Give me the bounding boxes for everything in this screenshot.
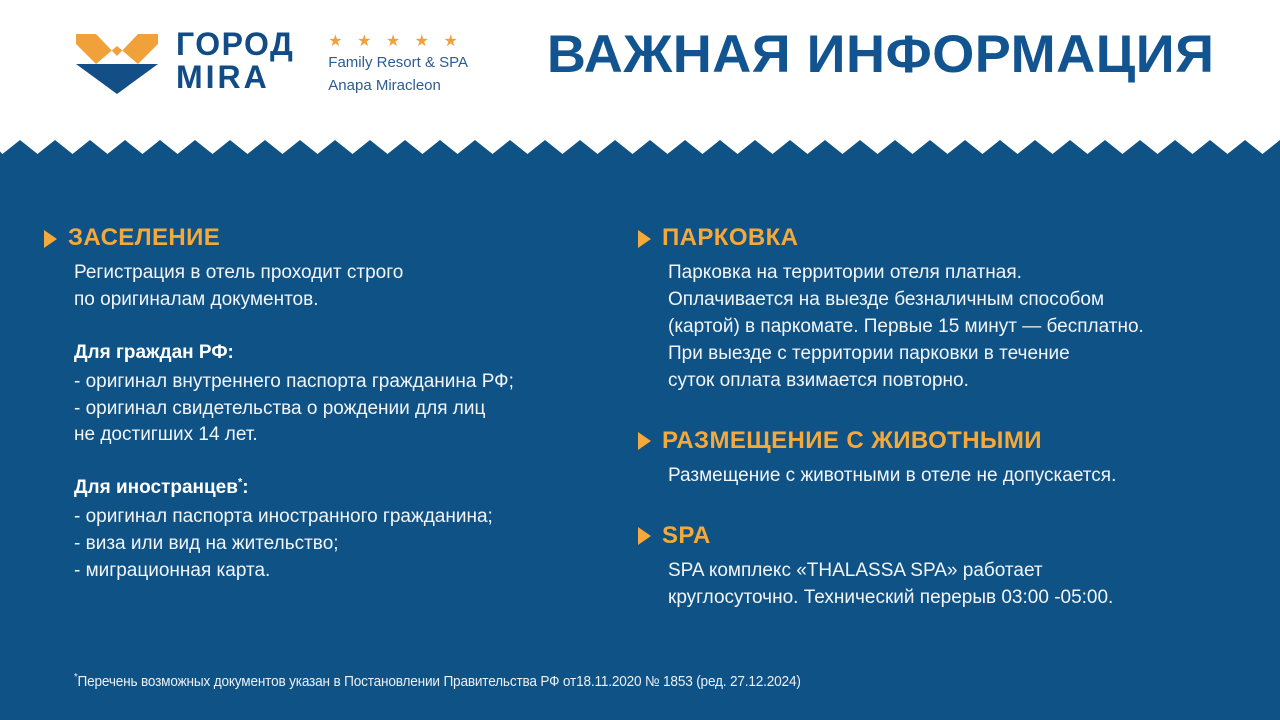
section-title: SPA xyxy=(662,524,711,548)
section-paragraph: суток оплата взимается повторно. xyxy=(668,368,1228,395)
brand-logo-block: ГОРОД MIRA ★ ★ ★ ★ ★ Family Resort & SPA… xyxy=(74,26,468,97)
page-title: ВАЖНАЯ ИНФОРМАЦИЯ xyxy=(546,28,1214,81)
brand-tagline: ★ ★ ★ ★ ★ Family Resort & SPA Anapa Mira… xyxy=(328,32,468,97)
section-title: ЗАСЕЛЕНИЕ xyxy=(68,226,220,250)
list-item: - оригинал паспорта иностранного граждан… xyxy=(74,504,614,531)
footnote-text: Перечень возможных документов указан в П… xyxy=(77,674,800,690)
section-paragraph: SPA комплекс «THALASSA SPA» работает xyxy=(668,558,1228,585)
section-paragraph: Парковка на территории отеля платная. xyxy=(668,260,1228,287)
header-bar: ГОРОД MIRA ★ ★ ★ ★ ★ Family Resort & SPA… xyxy=(0,0,1280,140)
section-paragraph: (картой) в паркомате. Первые 15 минут — … xyxy=(668,314,1228,341)
five-stars-icon: ★ ★ ★ ★ ★ xyxy=(328,32,468,52)
section-zaselenie: ЗАСЕЛЕНИЕ Регистрация в отель проходит с… xyxy=(44,226,614,585)
main-blue-panel: ЗАСЕЛЕНИЕ Регистрация в отель проходит с… xyxy=(0,140,1280,720)
tagline-family-resort: Family Resort & SPA xyxy=(328,52,468,75)
logo-word-gorod: ГОРОД xyxy=(176,28,294,61)
section-paragraph: Регистрация в отель проходит строго xyxy=(74,260,614,287)
spacer xyxy=(44,314,614,340)
triangle-bullet-icon xyxy=(44,230,57,248)
panel-content: ЗАСЕЛЕНИЕ Регистрация в отель проходит с… xyxy=(0,140,1280,720)
logo-wordmark: ГОРОД MIRA xyxy=(176,28,294,95)
triangle-bullet-icon xyxy=(638,432,651,450)
section-paragraph: по оригиналам документов. xyxy=(74,287,614,314)
tagline-anapa-miracleon: Anapa Miracleon xyxy=(328,75,468,98)
list-item: - оригинал внутреннего паспорта граждани… xyxy=(74,369,614,396)
subsection-heading-foreigners: Для иностранцев*: xyxy=(74,475,614,502)
right-column: ПАРКОВКА Парковка на территории отеля пл… xyxy=(638,226,1228,612)
list-item: - виза или вид на жительство; xyxy=(74,531,614,558)
section-header-spa: SPA xyxy=(638,524,1228,548)
triangle-bullet-icon xyxy=(638,230,651,248)
subsection-heading-colon: : xyxy=(242,477,248,498)
subsection-heading-rf: Для граждан РФ: xyxy=(74,340,614,367)
section-title: ПАРКОВКА xyxy=(662,226,798,250)
left-column: ЗАСЕЛЕНИЕ Регистрация в отель проходит с… xyxy=(44,226,614,585)
spacer xyxy=(638,395,1228,429)
footnote: *Перечень возможных документов указан в … xyxy=(74,673,801,692)
section-header-zaselenie: ЗАСЕЛЕНИЕ xyxy=(44,226,614,250)
section-paragraph: Размещение с животными в отеле не допуск… xyxy=(668,463,1228,490)
section-paragraph: круглосуточно. Технический перерыв 03:00… xyxy=(668,585,1228,612)
section-title: РАЗМЕЩЕНИЕ С ЖИВОТНЫМИ xyxy=(662,429,1042,453)
subsection-heading-text: Для иностранцев xyxy=(74,477,238,498)
slide-root: ГОРОД MIRA ★ ★ ★ ★ ★ Family Resort & SPA… xyxy=(0,0,1280,720)
spacer xyxy=(44,449,614,475)
section-spa: SPA SPA комплекс «THALASSA SPA» работает… xyxy=(638,524,1228,612)
list-item: - миграционная карта. xyxy=(74,558,614,585)
section-parkovka: ПАРКОВКА Парковка на территории отеля пл… xyxy=(638,226,1228,395)
triangle-bullet-icon xyxy=(638,527,651,545)
section-header-animals: РАЗМЕЩЕНИЕ С ЖИВОТНЫМИ xyxy=(638,429,1228,453)
section-paragraph: При выезде с территории парковки в течен… xyxy=(668,341,1228,368)
gorod-mira-heart-mountain-logo-icon xyxy=(74,30,160,96)
section-razmeshchenie-s-zhivotnymi: РАЗМЕЩЕНИЕ С ЖИВОТНЫМИ Размещение с живо… xyxy=(638,429,1228,490)
section-header-parkovka: ПАРКОВКА xyxy=(638,226,1228,250)
logo-word-mira: MIRA xyxy=(176,61,294,94)
section-paragraph: Оплачивается на выезде безналичным спосо… xyxy=(668,287,1228,314)
spacer xyxy=(638,490,1228,524)
list-item: - оригинал свидетельства о рождении для … xyxy=(74,396,614,423)
subsection-heading-text: Для граждан РФ: xyxy=(74,342,234,363)
list-item: не достигших 14 лет. xyxy=(74,422,614,449)
